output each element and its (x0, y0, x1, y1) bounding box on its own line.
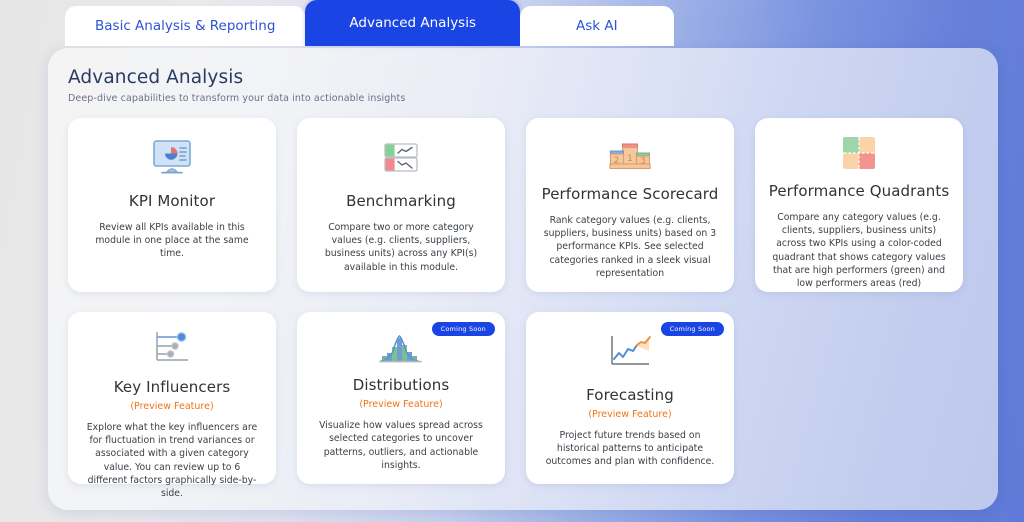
card-performance-quadrants[interactable]: Performance Quadrants Compare any catego… (755, 118, 963, 292)
card-benchmarking[interactable]: Benchmarking Compare two or more categor… (297, 118, 505, 292)
podium-icon: 2 1 3 (607, 135, 653, 174)
page-subtitle: Deep-dive capabilities to transform your… (68, 93, 998, 104)
kpi-monitor-icon (151, 135, 193, 181)
preview-label: (Preview Feature) (130, 401, 213, 412)
card-kpi-monitor[interactable]: KPI Monitor Review all KPIs available in… (68, 118, 276, 292)
card-description: Review all KPIs available in this module… (81, 221, 263, 261)
svg-text:3: 3 (640, 156, 646, 166)
svg-text:1: 1 (627, 154, 633, 164)
benchmarking-icon (381, 135, 421, 181)
card-description: Compare two or more category values (e.g… (310, 221, 492, 274)
status-badge: Coming Soon (432, 322, 495, 336)
svg-text:2: 2 (614, 156, 620, 166)
histogram-icon (379, 329, 423, 365)
card-description: Rank category values (e.g. clients, supp… (539, 214, 721, 280)
status-badge: Coming Soon (661, 322, 724, 336)
forecast-chart-icon (607, 329, 653, 375)
card-title: Distributions (353, 376, 450, 394)
feature-card-grid: KPI Monitor Review all KPIs available in… (68, 118, 998, 484)
advanced-analysis-panel: Advanced Analysis Deep-dive capabilities… (48, 48, 998, 510)
panel-header: Advanced Analysis Deep-dive capabilities… (48, 48, 998, 104)
card-title: Performance Quadrants (769, 182, 950, 200)
card-description: Project future trends based on historica… (539, 429, 721, 469)
card-title: Forecasting (586, 386, 674, 404)
card-forecasting[interactable]: Coming Soon Forecasting (Preview Feature… (526, 312, 734, 484)
card-title: Performance Scorecard (542, 185, 719, 203)
page-title: Advanced Analysis (68, 67, 998, 88)
card-description: Explore what the key influencers are for… (81, 421, 263, 500)
lollipop-chart-icon (152, 329, 192, 367)
tab-label: Advanced Analysis (349, 15, 476, 31)
preview-label: (Preview Feature) (588, 409, 671, 420)
quadrant-icon (841, 135, 877, 171)
tab-label: Ask AI (576, 18, 618, 34)
card-key-influencers[interactable]: Key Influencers (Preview Feature) Explor… (68, 312, 276, 484)
card-description: Compare any category values (e.g. client… (768, 211, 950, 290)
tab-bar: Basic Analysis & Reporting Advanced Anal… (65, 0, 674, 46)
tab-basic-analysis-reporting[interactable]: Basic Analysis & Reporting (65, 6, 305, 46)
card-description: Visualize how values spread across selec… (310, 419, 492, 472)
preview-label: (Preview Feature) (359, 399, 442, 410)
card-title: Benchmarking (346, 192, 456, 210)
card-title: Key Influencers (114, 378, 231, 396)
card-distributions[interactable]: Coming Soon Distributions (297, 312, 505, 484)
tab-ask-ai[interactable]: Ask AI (520, 6, 674, 46)
tab-advanced-analysis[interactable]: Advanced Analysis (305, 0, 520, 46)
card-performance-scorecard[interactable]: 2 1 3 Performance Scorecard Rank categor… (526, 118, 734, 292)
tab-label: Basic Analysis & Reporting (95, 18, 275, 34)
card-title: KPI Monitor (129, 192, 215, 210)
